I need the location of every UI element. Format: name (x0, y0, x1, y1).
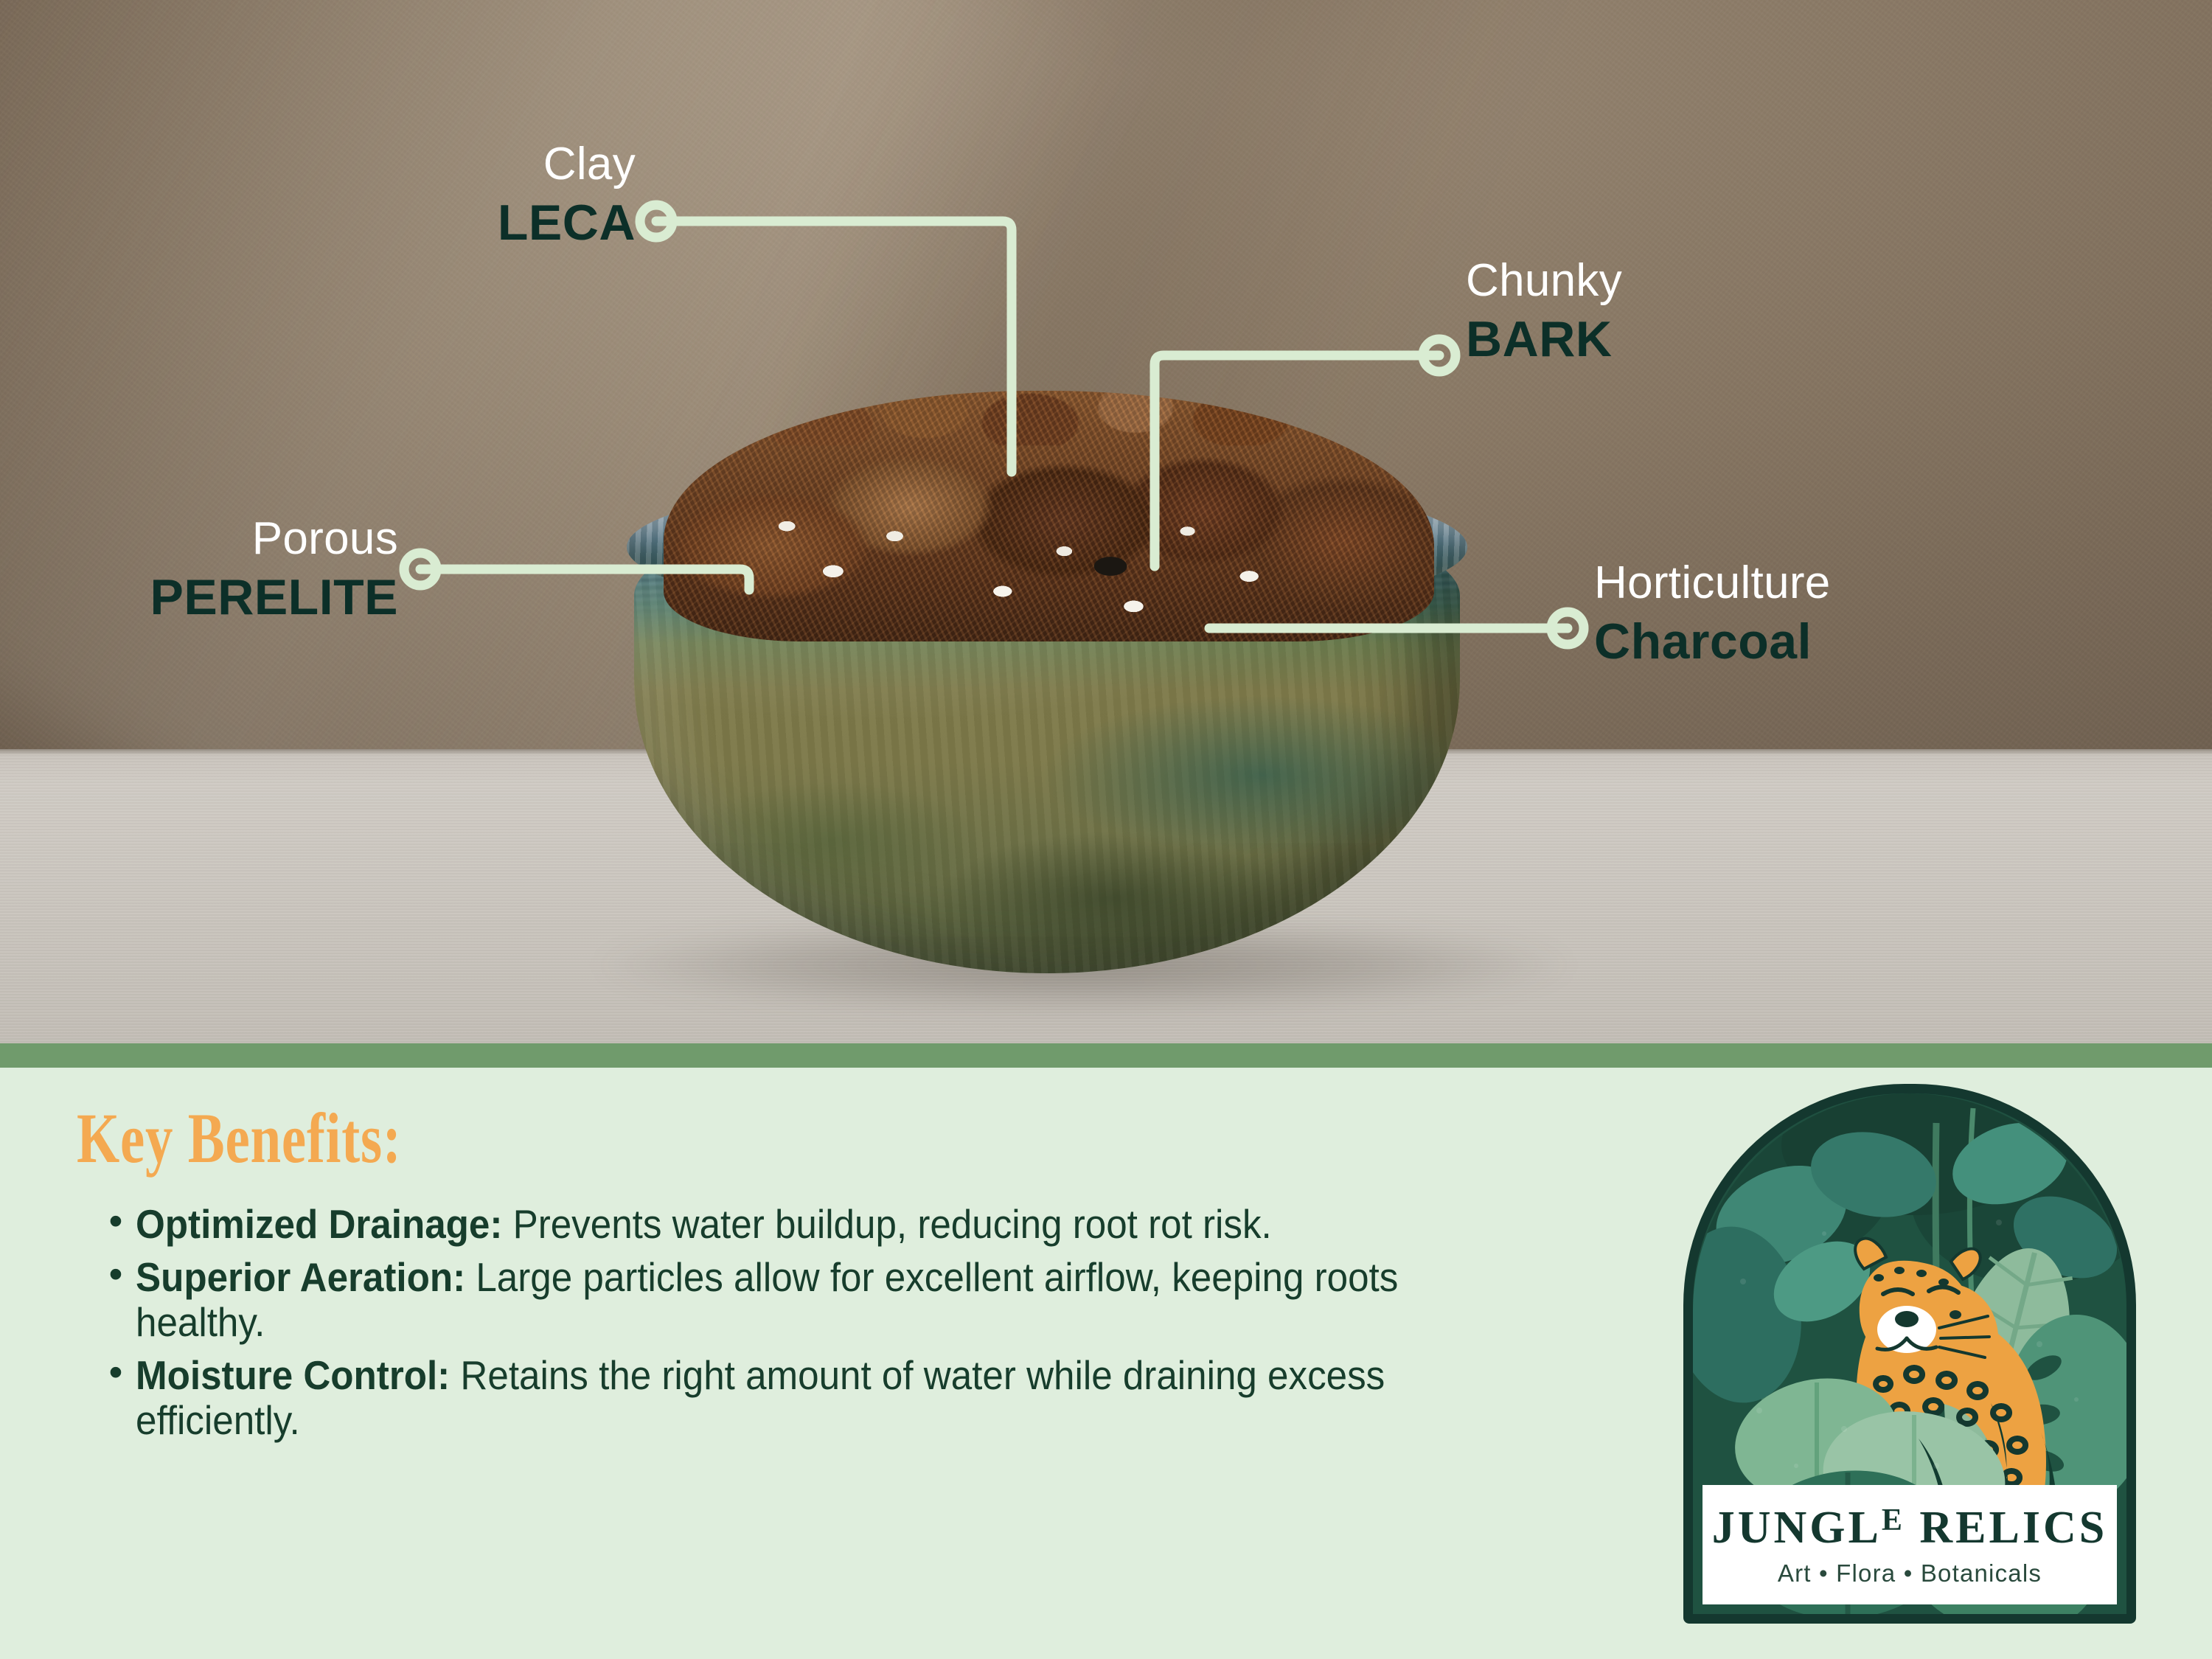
brand-logo: JUNGLE RELICS Art • Flora • Botanicals (1683, 1084, 2136, 1624)
product-photo: Clay LECA Chunky BARK Porous PERELITE Ho… (0, 0, 2212, 1043)
bullet-icon: • (96, 1253, 136, 1295)
benefits-list: • Optimized Drainage: Prevents water bui… (96, 1202, 1578, 1451)
bullet-icon: • (96, 1352, 136, 1393)
callout-label-bark: Chunky BARK (1466, 258, 1982, 364)
benefits-title: Key Benefits: (77, 1097, 402, 1179)
logo-name-small-e: E (1882, 1503, 1905, 1537)
list-item: • Moisture Control: Retains the right am… (96, 1353, 1578, 1444)
callout-bottom-bark: BARK (1466, 314, 1982, 364)
callout-label-leca: Clay LECA (221, 142, 636, 248)
callout-bottom-leca: LECA (221, 198, 636, 248)
callout-line-bark (1155, 355, 1439, 566)
callout-top-charcoal: Horticulture (1594, 560, 2169, 606)
benefit-label: Optimized Drainage: (136, 1201, 502, 1247)
logo-name-part2: RELICS (1905, 1503, 2107, 1553)
list-item: • Superior Aeration: Large particles all… (96, 1255, 1578, 1346)
benefit-label: Superior Aeration: (136, 1254, 465, 1300)
bullet-icon: • (96, 1200, 136, 1242)
callout-line-leca (656, 221, 1012, 472)
callout-top-leca: Clay (221, 142, 636, 187)
benefit-text: Superior Aeration: Large particles allow… (136, 1255, 1477, 1346)
callout-top-bark: Chunky (1466, 258, 1982, 304)
callout-top-perelite: Porous (0, 516, 398, 562)
logo-name-part1: JUNGL (1712, 1503, 1882, 1553)
list-item: • Optimized Drainage: Prevents water bui… (96, 1202, 1578, 1248)
logo-tagline: Art • Flora • Botanicals (1778, 1561, 2042, 1585)
section-divider (0, 1043, 2212, 1068)
callout-bottom-perelite: PERELITE (0, 572, 398, 622)
logo-arch-frame: JUNGLE RELICS Art • Flora • Botanicals (1683, 1084, 2136, 1624)
logo-nameplate: JUNGLE RELICS Art • Flora • Botanicals (1703, 1485, 2117, 1604)
benefit-label: Moisture Control: (136, 1352, 450, 1398)
logo-wordmark: JUNGLE RELICS (1712, 1505, 2108, 1551)
benefit-text: Moisture Control: Retains the right amou… (136, 1353, 1477, 1444)
infographic-poster: Clay LECA Chunky BARK Porous PERELITE Ho… (0, 0, 2212, 1659)
benefit-text: Optimized Drainage: Prevents water build… (136, 1202, 1477, 1248)
callout-bottom-charcoal: Charcoal (1594, 616, 2169, 667)
callout-label-perelite: Porous PERELITE (0, 516, 398, 622)
callout-line-perelite (420, 569, 749, 590)
callout-label-charcoal: Horticulture Charcoal (1594, 560, 2169, 667)
benefit-body: Prevents water buildup, reducing root ro… (502, 1201, 1271, 1247)
